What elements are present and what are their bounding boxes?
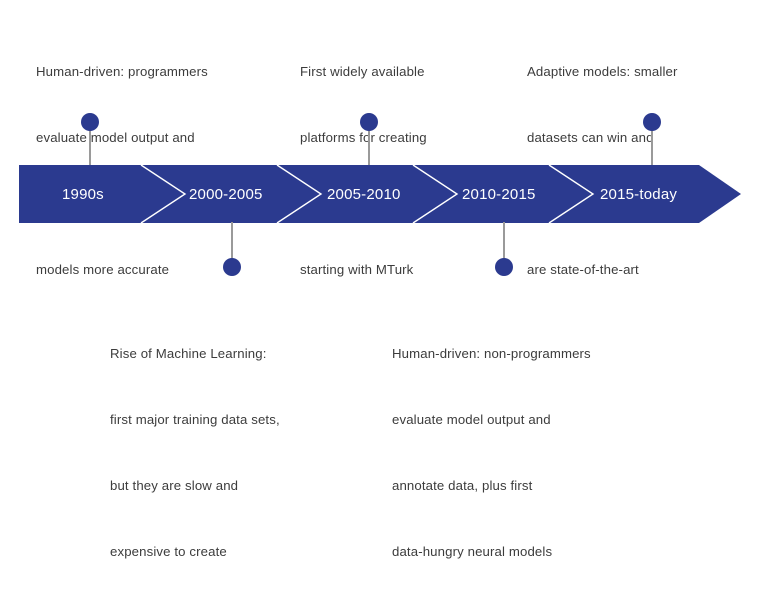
callout-bottom-2: Human-driven: non-programmers evaluate m…: [392, 299, 591, 607]
callout-top-2-line-4: starting with MTurk: [300, 259, 428, 281]
callout-bottom-1: Rise of Machine Learning: first major tr…: [110, 299, 280, 607]
callout-top-3-line-4: are state-of-the-art: [527, 259, 693, 281]
callout-bottom-2-line-4: data-hungry neural models: [392, 541, 591, 563]
connector-dot-bottom-2: [495, 258, 513, 276]
callout-bottom-2-line-3: annotate data, plus first: [392, 475, 591, 497]
callout-top-1-line-1: Human-driven: programmers: [36, 61, 208, 83]
connector-dot-bottom-1: [223, 258, 241, 276]
connector-stem-top-3: [651, 128, 653, 167]
callout-top-2-line-2: platforms for creating: [300, 127, 428, 149]
callout-top-3-line-2: datasets can win and: [527, 127, 693, 149]
callout-bottom-2-line-1: Human-driven: non-programmers: [392, 343, 591, 365]
segment-label-4[interactable]: 2010-2015: [462, 165, 536, 223]
segment-label-5[interactable]: 2015-today: [600, 165, 677, 223]
connector-stem-top-1: [89, 128, 91, 167]
timeline-infographic: Human-driven: programmers evaluate model…: [0, 0, 760, 410]
callout-bottom-1-line-4: expensive to create: [110, 541, 280, 563]
segment-label-3[interactable]: 2005-2010: [327, 165, 401, 223]
callout-top-2-line-1: First widely available: [300, 61, 428, 83]
callout-bottom-1-line-3: but they are slow and: [110, 475, 280, 497]
segment-label-2[interactable]: 2000-2005: [189, 165, 263, 223]
callout-bottom-1-line-2: first major training data sets,: [110, 409, 280, 431]
callout-bottom-1-line-1: Rise of Machine Learning:: [110, 343, 280, 365]
connector-dot-top-3: [643, 113, 661, 131]
callout-top-3-line-1: Adaptive models: smaller: [527, 61, 693, 83]
connector-dot-top-2: [360, 113, 378, 131]
connector-dot-top-1: [81, 113, 99, 131]
segment-label-1[interactable]: 1990s: [62, 165, 104, 223]
callout-top-1-line-2: evaluate model output and: [36, 127, 208, 149]
callout-bottom-2-line-2: evaluate model output and: [392, 409, 591, 431]
callout-top-1-line-4: models more accurate: [36, 259, 208, 281]
connector-stem-top-2: [368, 128, 370, 167]
